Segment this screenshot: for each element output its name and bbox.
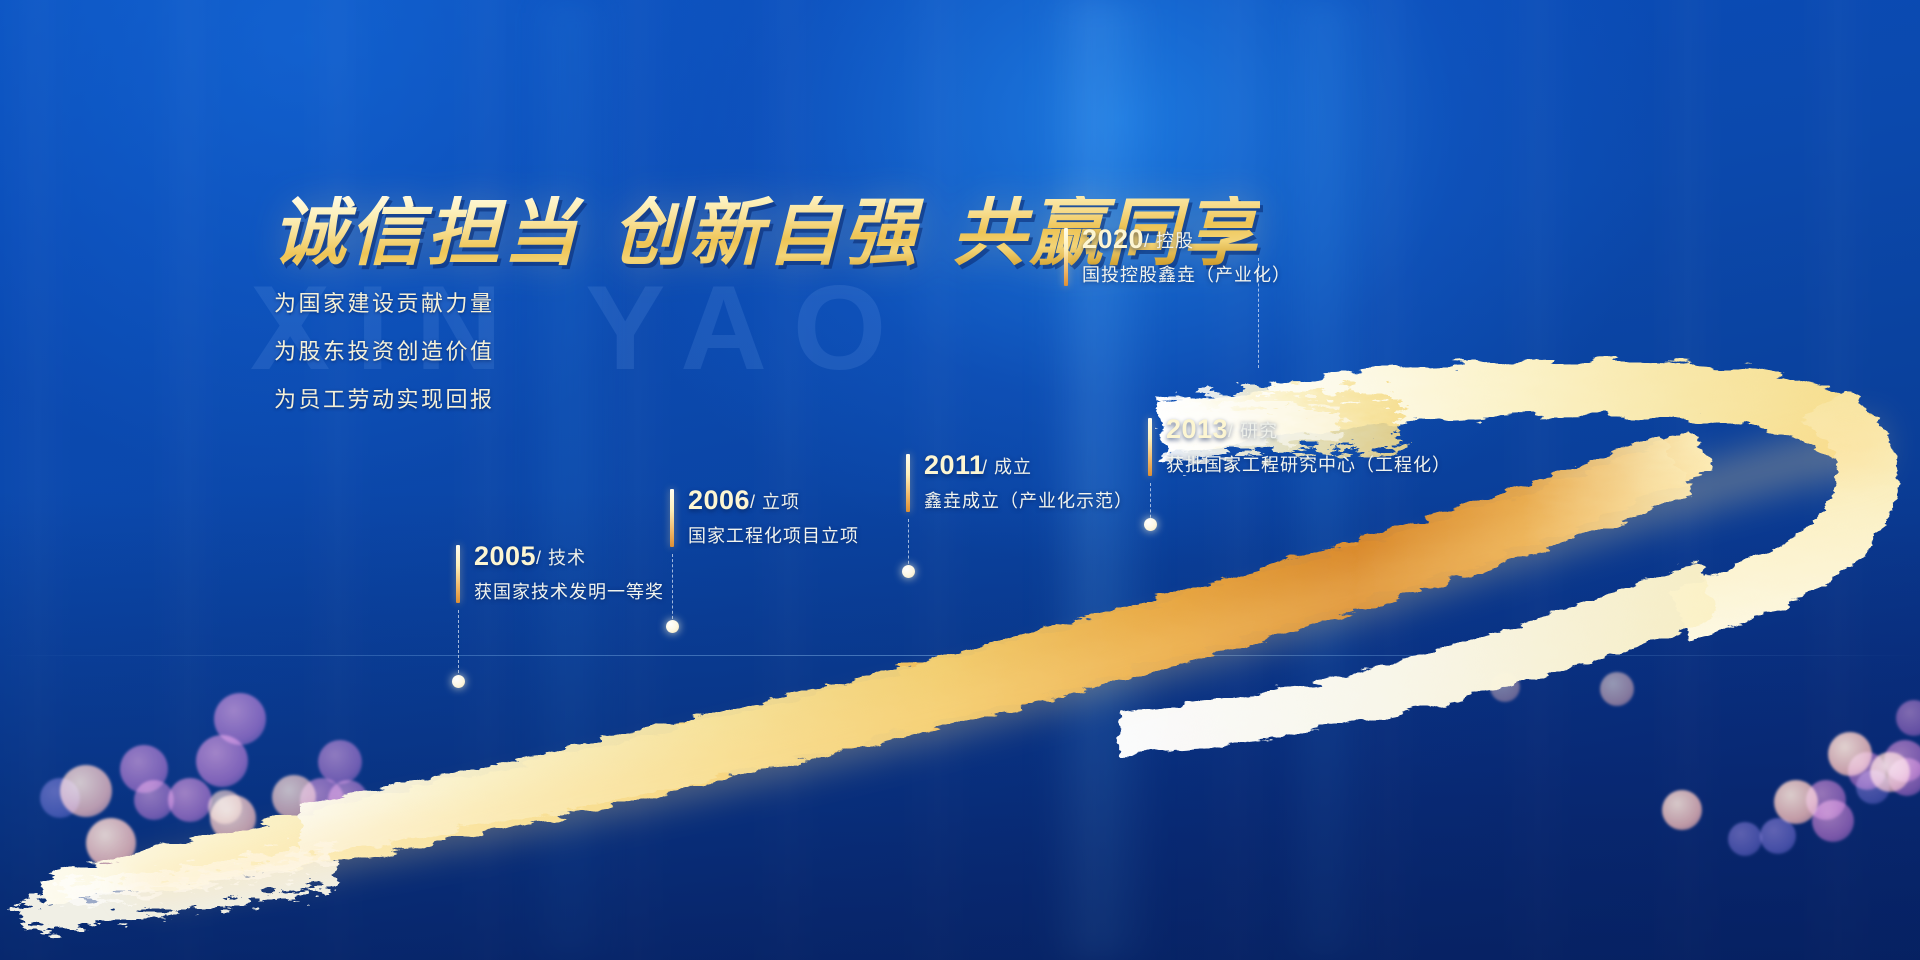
brand-watermark: XIN YAO [250, 268, 912, 388]
bokeh-circle [204, 842, 234, 872]
bokeh-circle [1856, 770, 1890, 804]
bokeh-circle [1896, 700, 1920, 736]
milestone-year: 2020 [1082, 226, 1144, 253]
milestone-description: 鑫垚成立（产业化示范） [924, 492, 1133, 510]
milestone-category: / 技术 [536, 549, 586, 567]
bokeh-circle [1728, 822, 1762, 856]
milestone-accent-bar [456, 545, 460, 603]
slogan-line-2: 为股东投资创造价值 [274, 341, 495, 363]
bokeh-circle [86, 818, 136, 868]
light-beam-center [1040, 0, 1160, 960]
timeline-dot-2006[interactable] [666, 620, 679, 633]
slogan-line-3: 为员工劳动实现回报 [274, 389, 495, 411]
bokeh-circle [360, 798, 394, 832]
milestone-category: / 成立 [982, 458, 1032, 476]
light-beam-left [520, 0, 620, 960]
bokeh-circle [318, 740, 362, 784]
timeline-dot-2013[interactable] [1144, 518, 1157, 531]
milestone-year: 2011 [924, 452, 985, 479]
leader-line-2013 [1150, 483, 1151, 523]
bokeh-circle [1888, 758, 1920, 796]
leader-line-2011 [908, 519, 909, 569]
milestone-separator: / [1144, 231, 1150, 251]
bokeh-circle [1812, 800, 1854, 842]
bokeh-circle [40, 778, 80, 818]
light-beam-right [1280, 0, 1370, 960]
milestone-separator: / [1228, 421, 1234, 441]
bokeh-circle [1490, 672, 1520, 702]
milestone-category-label: 立项 [762, 492, 800, 512]
banner-canvas: XIN YAO 诚信担当创新自强共赢同享 为国家建设贡献力量 为股东投资创造价值… [0, 0, 1920, 960]
milestone-separator: / [536, 548, 542, 568]
milestone-category-label: 研究 [1240, 421, 1278, 441]
bokeh-circle [134, 780, 174, 820]
milestone-category-label: 技术 [548, 548, 586, 568]
milestone-accent-bar [1064, 228, 1068, 286]
milestone-separator: / [750, 492, 756, 512]
milestone-category-label: 成立 [994, 457, 1032, 477]
milestone-year: 2013 [1166, 416, 1228, 443]
milestone-category: / 立项 [750, 493, 800, 511]
milestone-category-label: 控股 [1156, 231, 1194, 251]
bokeh-circle [208, 790, 242, 824]
bokeh-circle [1662, 790, 1702, 830]
timeline-dot-2005[interactable] [452, 675, 465, 688]
timeline-dot-2011[interactable] [902, 565, 915, 578]
milestone-year: 2006 [688, 487, 750, 514]
milestone-year: 2005 [474, 543, 536, 570]
milestone-category: / 控股 [1144, 232, 1194, 250]
leader-line-2005 [458, 610, 459, 678]
milestone-description: 获国家技术发明一等奖 [474, 583, 664, 601]
milestone-accent-bar [906, 454, 910, 512]
milestone-separator: / [982, 457, 988, 477]
horizon-line [0, 655, 1920, 656]
headline-part-2: 创新自强 [612, 190, 920, 276]
headline-part-1: 诚信担当 [272, 190, 580, 276]
milestone-description: 获批国家工程研究中心（工程化） [1166, 456, 1451, 474]
milestone-description: 国投控股鑫垚（产业化） [1082, 266, 1291, 284]
milestone-accent-bar [1148, 418, 1152, 476]
bottom-vignette [0, 490, 1920, 960]
bokeh-circle [1600, 672, 1634, 706]
slogan-line-1: 为国家建设贡献力量 [274, 293, 495, 315]
leader-line-2006 [672, 554, 673, 624]
milestone-accent-bar [670, 489, 674, 547]
milestone-description: 国家工程化项目立项 [688, 527, 859, 545]
leader-line-2020 [1258, 258, 1259, 368]
bokeh-circle [214, 693, 266, 745]
milestone-category: / 研究 [1228, 422, 1278, 440]
bokeh-circle [168, 778, 212, 822]
